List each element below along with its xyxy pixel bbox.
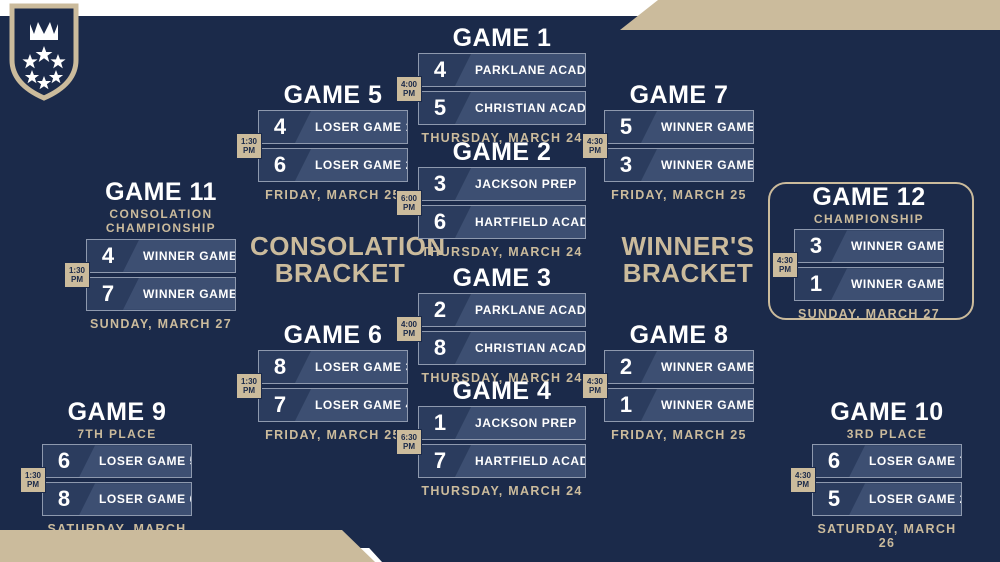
team-row[interactable]: 4 LOSER GAME 1 <box>258 110 408 144</box>
team-name: WINNER GAME 4 <box>647 398 754 412</box>
seed-box: 1 <box>605 389 647 421</box>
game-title: GAME 2 <box>418 140 586 165</box>
matchup: 1:30 PM 4 WINNER GAME 5 7 WINNER GAME 6 <box>86 239 236 311</box>
seed-number: 6 <box>434 211 446 233</box>
game-title: GAME 8 <box>604 323 754 348</box>
game-block-game-5[interactable]: GAME 5 1:30 PM 4 LOSER GAME 1 6 LOSER GA… <box>258 83 408 202</box>
seed-box: 1 <box>419 407 461 439</box>
team-name: JACKSON PREP <box>461 416 577 430</box>
game-title: GAME 1 <box>418 26 586 51</box>
seed-number: 6 <box>828 450 840 472</box>
game-date: SATURDAY, MARCH 26 <box>812 522 962 550</box>
seed-number: 1 <box>434 412 446 434</box>
game-block-game-10[interactable]: GAME 10 3RD PLACE 4:30 PM 6 LOSER GAME 7… <box>812 400 962 550</box>
team-name: WINNER GAME 5 <box>129 249 236 263</box>
team-name: PARKLANE ACADEMY <box>461 303 586 317</box>
seed-box: 7 <box>87 278 129 310</box>
game-date: THURSDAY, MARCH 24 <box>418 484 586 498</box>
seed-number: 6 <box>274 154 286 176</box>
game-title: GAME 9 <box>42 400 192 425</box>
time-period: PM <box>400 89 418 98</box>
seed-box: 5 <box>419 92 461 124</box>
team-row[interactable]: 6 HARTFIELD ACADEMY <box>418 205 586 239</box>
time-period: PM <box>586 146 604 155</box>
game-block-game-3[interactable]: GAME 3 4:00 PM 2 PARKLANE ACADEMY 8 CHRI… <box>418 266 586 385</box>
seed-number: 1 <box>620 394 632 416</box>
game-time-tag: 6:00 PM <box>396 190 422 216</box>
seed-number: 8 <box>274 356 286 378</box>
matchup: 6:00 PM 3 JACKSON PREP 6 HARTFIELD ACADE… <box>418 167 586 239</box>
team-name: LOSER GAME 3 <box>301 360 408 374</box>
team-row[interactable]: 8 CHRISTIAN ACADEMY <box>418 331 586 365</box>
team-name: CHRISTIAN ACADEMY <box>461 101 586 115</box>
matchup: 1:30 PM 4 LOSER GAME 1 6 LOSER GAME 2 <box>258 110 408 182</box>
team-name: WINNER GAME 7 <box>837 239 944 253</box>
team-name: WINNER GAME 8 <box>837 277 944 291</box>
game-block-game-8[interactable]: GAME 8 4:30 PM 2 WINNER GAME 3 1 WINNER … <box>604 323 754 442</box>
game-block-game-1[interactable]: GAME 1 4:00 PM 4 PARKLANE ACADEMY 5 CHRI… <box>418 26 586 145</box>
matchup: 4:30 PM 5 WINNER GAME 1 3 WINNER GAME 2 <box>604 110 754 182</box>
seed-number: 3 <box>810 235 822 257</box>
tournament-bracket-canvas: CONSOLATION BRACKET WINNER'S BRACKET GAM… <box>0 0 1000 562</box>
game-time-tag: 1:30 PM <box>236 133 262 159</box>
seed-box: 3 <box>605 149 647 181</box>
game-title: GAME 4 <box>418 379 586 404</box>
time-period: PM <box>776 265 794 274</box>
winners-bracket-label: WINNER'S BRACKET <box>598 233 778 286</box>
time-hour: 4:30 <box>586 137 604 146</box>
seed-box: 2 <box>605 351 647 383</box>
team-name: PARKLANE ACADEMY <box>461 63 586 77</box>
seed-box: 3 <box>795 230 837 262</box>
seed-number: 3 <box>434 173 446 195</box>
seed-number: 4 <box>434 59 446 81</box>
time-hour: 1:30 <box>68 266 86 275</box>
seed-number: 4 <box>102 245 114 267</box>
game-block-game-7[interactable]: GAME 7 4:30 PM 5 WINNER GAME 1 3 WINNER … <box>604 83 754 202</box>
time-hour: 1:30 <box>24 471 42 480</box>
team-name: LOSER GAME 2 <box>855 492 962 506</box>
seed-number: 8 <box>434 337 446 359</box>
seed-number: 7 <box>274 394 286 416</box>
seed-box: 6 <box>259 149 301 181</box>
matchup: 4:00 PM 4 PARKLANE ACADEMY 5 CHRISTIAN A… <box>418 53 586 125</box>
game-block-game-6[interactable]: GAME 6 1:30 PM 8 LOSER GAME 3 7 LOSER GA… <box>258 323 408 442</box>
game-date: FRIDAY, MARCH 25 <box>604 428 754 442</box>
game-subtitle: 3RD PLACE <box>812 427 962 441</box>
seed-box: 6 <box>43 445 85 477</box>
team-name: LOSER GAME 2 <box>301 158 408 172</box>
game-block-game-11[interactable]: GAME 11 CONSOLATION CHAMPIONSHIP 1:30 PM… <box>86 180 236 331</box>
game-time-tag: 4:00 PM <box>396 316 422 342</box>
time-period: PM <box>240 386 258 395</box>
matchup: 4:30 PM 3 WINNER GAME 7 1 WINNER GAME 8 <box>794 229 944 301</box>
time-hour: 6:00 <box>400 194 418 203</box>
time-hour: 6:30 <box>400 433 418 442</box>
game-date: FRIDAY, MARCH 25 <box>604 188 754 202</box>
seed-box: 5 <box>813 483 855 515</box>
seed-box: 4 <box>419 54 461 86</box>
seed-box: 4 <box>259 111 301 143</box>
game-block-game-9[interactable]: GAME 9 7TH PLACE 1:30 PM 6 LOSER GAME 5 … <box>42 400 192 550</box>
game-title: GAME 5 <box>258 83 408 108</box>
team-row[interactable]: 7 WINNER GAME 6 <box>86 277 236 311</box>
game-time-tag: 1:30 PM <box>20 467 46 493</box>
time-period: PM <box>400 203 418 212</box>
game-date: THURSDAY, MARCH 24 <box>418 245 586 259</box>
time-period: PM <box>794 480 812 489</box>
team-row[interactable]: 8 LOSER GAME 3 <box>258 350 408 384</box>
seed-box: 3 <box>419 168 461 200</box>
team-row[interactable]: 1 WINNER GAME 4 <box>604 388 754 422</box>
game-subtitle: 7TH PLACE <box>42 427 192 441</box>
time-hour: 4:30 <box>794 471 812 480</box>
team-row[interactable]: 6 LOSER GAME 5 <box>42 444 192 478</box>
team-name: JACKSON PREP <box>461 177 577 191</box>
game-time-tag: 4:30 PM <box>772 252 798 278</box>
seed-number: 2 <box>434 299 446 321</box>
game-time-tag: 1:30 PM <box>64 262 90 288</box>
team-name: LOSER GAME 1 <box>301 120 408 134</box>
team-name: LOSER GAME 7 <box>855 454 962 468</box>
team-row[interactable]: 3 JACKSON PREP <box>418 167 586 201</box>
game-title: GAME 12 <box>794 185 944 210</box>
time-period: PM <box>68 275 86 284</box>
game-date: SUNDAY, MARCH 27 <box>794 307 944 321</box>
matchup: 4:30 PM 2 WINNER GAME 3 1 WINNER GAME 4 <box>604 350 754 422</box>
seed-box: 6 <box>813 445 855 477</box>
seed-number: 7 <box>434 450 446 472</box>
time-hour: 4:30 <box>586 377 604 386</box>
team-name: CHRISTIAN ACADEMY <box>461 341 586 355</box>
team-row[interactable]: 7 HARTFIELD ACADEMY <box>418 444 586 478</box>
seed-box: 1 <box>795 268 837 300</box>
time-period: PM <box>400 329 418 338</box>
game-time-tag: 6:30 PM <box>396 429 422 455</box>
game-subtitle: CONSOLATION CHAMPIONSHIP <box>86 207 236 236</box>
time-period: PM <box>240 146 258 155</box>
seed-number: 1 <box>810 273 822 295</box>
game-title: GAME 7 <box>604 83 754 108</box>
matchup: 1:30 PM 8 LOSER GAME 3 7 LOSER GAME 4 <box>258 350 408 422</box>
seed-box: 8 <box>419 332 461 364</box>
team-name: LOSER GAME 6 <box>85 492 192 506</box>
game-subtitle: CHAMPIONSHIP <box>794 212 944 226</box>
game-title: GAME 10 <box>812 400 962 425</box>
team-name: WINNER GAME 6 <box>129 287 236 301</box>
team-row[interactable]: 5 LOSER GAME 2 <box>812 482 962 516</box>
seed-number: 5 <box>620 116 632 138</box>
matchup: 6:30 PM 1 JACKSON PREP 7 HARTFIELD ACADE… <box>418 406 586 478</box>
team-name: LOSER GAME 5 <box>85 454 192 468</box>
seed-number: 5 <box>434 97 446 119</box>
seed-box: 6 <box>419 206 461 238</box>
team-row[interactable]: 3 WINNER GAME 7 <box>794 229 944 263</box>
seed-number: 4 <box>274 116 286 138</box>
matchup: 4:00 PM 2 PARKLANE ACADEMY 8 CHRISTIAN A… <box>418 293 586 365</box>
seed-box: 4 <box>87 240 129 272</box>
game-time-tag: 4:30 PM <box>582 373 608 399</box>
seed-number: 8 <box>58 488 70 510</box>
team-name: WINNER GAME 2 <box>647 158 754 172</box>
game-title: GAME 11 <box>86 180 236 205</box>
time-hour: 1:30 <box>240 137 258 146</box>
seed-box: 8 <box>259 351 301 383</box>
time-period: PM <box>24 480 42 489</box>
game-date: FRIDAY, MARCH 25 <box>258 428 408 442</box>
team-name: WINNER GAME 3 <box>647 360 754 374</box>
team-name: WINNER GAME 1 <box>647 120 754 134</box>
time-hour: 4:30 <box>776 256 794 265</box>
game-block-game-2[interactable]: GAME 2 6:00 PM 3 JACKSON PREP 6 HARTFIEL… <box>418 140 586 259</box>
team-row[interactable]: 3 WINNER GAME 2 <box>604 148 754 182</box>
time-period: PM <box>400 442 418 451</box>
seed-number: 5 <box>828 488 840 510</box>
team-row[interactable]: 7 LOSER GAME 4 <box>258 388 408 422</box>
team-name: HARTFIELD ACADEMY <box>461 454 586 468</box>
game-time-tag: 4:30 PM <box>790 467 816 493</box>
time-hour: 4:00 <box>400 80 418 89</box>
seed-number: 7 <box>102 283 114 305</box>
consolation-bracket-label: CONSOLATION BRACKET <box>250 233 430 286</box>
top-right-tan-accent <box>600 0 1000 30</box>
team-row[interactable]: 4 PARKLANE ACADEMY <box>418 53 586 87</box>
game-title: GAME 6 <box>258 323 408 348</box>
team-row[interactable]: 1 JACKSON PREP <box>418 406 586 440</box>
game-date: SATURDAY, MARCH 26 <box>42 522 192 550</box>
game-date: SUNDAY, MARCH 27 <box>86 317 236 331</box>
seed-number: 6 <box>58 450 70 472</box>
team-name: HARTFIELD ACADEMY <box>461 215 586 229</box>
shield-crown-stars-logo <box>8 2 80 102</box>
team-row[interactable]: 4 WINNER GAME 5 <box>86 239 236 273</box>
time-hour: 1:30 <box>240 377 258 386</box>
game-time-tag: 1:30 PM <box>236 373 262 399</box>
game-time-tag: 4:30 PM <box>582 133 608 159</box>
game-time-tag: 4:00 PM <box>396 76 422 102</box>
seed-box: 8 <box>43 483 85 515</box>
seed-box: 7 <box>259 389 301 421</box>
team-row[interactable]: 6 LOSER GAME 7 <box>812 444 962 478</box>
team-row[interactable]: 1 WINNER GAME 8 <box>794 267 944 301</box>
time-period: PM <box>586 386 604 395</box>
game-block-game-4[interactable]: GAME 4 6:30 PM 1 JACKSON PREP 7 HARTFIEL… <box>418 379 586 498</box>
matchup: 4:30 PM 6 LOSER GAME 7 5 LOSER GAME 2 <box>812 444 962 516</box>
team-row[interactable]: 8 LOSER GAME 6 <box>42 482 192 516</box>
time-hour: 4:00 <box>400 320 418 329</box>
team-name: LOSER GAME 4 <box>301 398 408 412</box>
team-row[interactable]: 5 CHRISTIAN ACADEMY <box>418 91 586 125</box>
team-row[interactable]: 5 WINNER GAME 1 <box>604 110 754 144</box>
team-row[interactable]: 2 PARKLANE ACADEMY <box>418 293 586 327</box>
seed-box: 7 <box>419 445 461 477</box>
seed-number: 3 <box>620 154 632 176</box>
seed-box: 2 <box>419 294 461 326</box>
team-row[interactable]: 6 LOSER GAME 2 <box>258 148 408 182</box>
matchup: 1:30 PM 6 LOSER GAME 5 8 LOSER GAME 6 <box>42 444 192 516</box>
game-title: GAME 3 <box>418 266 586 291</box>
game-block-game-12[interactable]: GAME 12 CHAMPIONSHIP 4:30 PM 3 WINNER GA… <box>794 185 944 321</box>
team-row[interactable]: 2 WINNER GAME 3 <box>604 350 754 384</box>
game-date: FRIDAY, MARCH 25 <box>258 188 408 202</box>
seed-box: 5 <box>605 111 647 143</box>
seed-number: 2 <box>620 356 632 378</box>
